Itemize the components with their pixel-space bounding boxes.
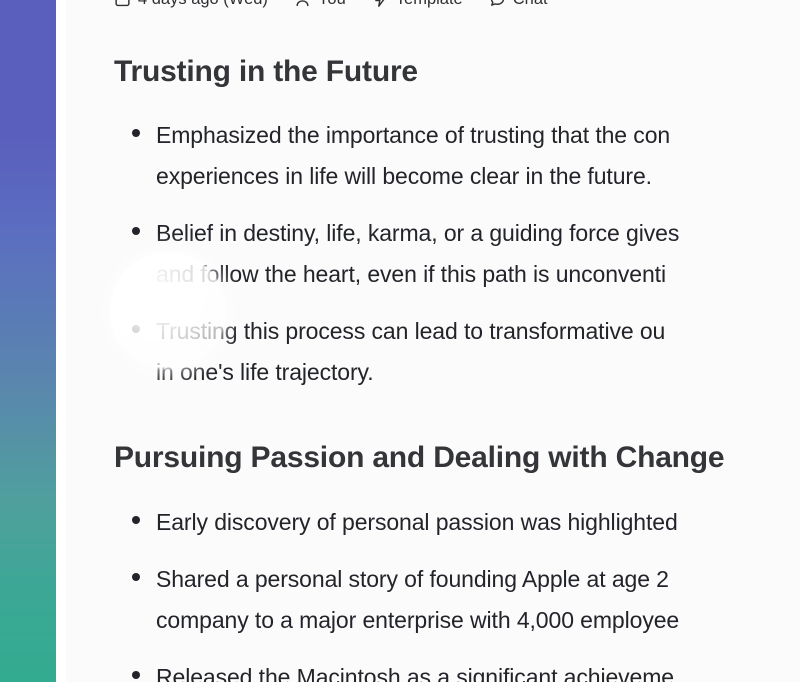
list-item-line: Early discovery of personal passion was … [156,502,800,543]
section-heading: Pursuing Passion and Dealing with Change [66,439,800,477]
document-panel: 4 days ago (Wed) You Template [66,0,800,682]
lightning-icon [372,0,389,8]
list-item-line: Trusting this process can lead to transf… [156,311,800,352]
bullet-dot-icon [132,671,140,679]
app-screen: 4 days ago (Wed) You Template [0,0,800,682]
list-item-line: Shared a personal story of founding Appl… [156,559,800,600]
meta-item-template-label: Template [396,0,463,9]
list-item-line: Released the Macintosh as a significant … [156,657,800,682]
list-item[interactable]: Belief in destiny, life, karma, or a gui… [66,213,800,295]
meta-item-template[interactable]: Template [372,0,463,9]
meta-item-date[interactable]: 4 days ago (Wed) [114,0,268,9]
document-section: Trusting in the Future Emphasized the im… [66,53,800,393]
calendar-icon [114,0,131,8]
left-gradient-rail [0,0,56,682]
meta-item-author[interactable]: You [294,0,346,9]
list-item-line: experiences in life will become clear in… [156,156,800,197]
list-item-line: in one's life trajectory. [156,352,800,393]
document-content: Trusting in the Future Emphasized the im… [66,28,800,682]
list-item-line: and follow the heart, even if this path … [156,254,800,295]
document-meta-bar: 4 days ago (Wed) You Template [66,0,548,12]
bullet-dot-icon [132,129,140,137]
meta-item-author-label: You [318,0,346,9]
section-heading: Trusting in the Future [66,53,800,91]
chat-icon [489,0,506,8]
list-item-line: company to a major enterprise with 4,000… [156,600,800,641]
document-section: Pursuing Passion and Dealing with Change… [66,439,800,682]
bullet-dot-icon [132,573,140,581]
meta-item-chat-label: Chat [513,0,548,9]
bullet-dot-icon [132,227,140,235]
list-item[interactable]: Released the Macintosh as a significant … [66,657,800,682]
list-item-line: Emphasized the importance of trusting th… [156,115,800,156]
list-item[interactable]: Trusting this process can lead to transf… [66,311,800,393]
list-item[interactable]: Emphasized the importance of trusting th… [66,115,800,197]
section-bullet-list: Early discovery of personal passion was … [66,502,800,682]
bullet-dot-icon [132,325,140,333]
person-icon [294,0,311,8]
list-item[interactable]: Shared a personal story of founding Appl… [66,559,800,641]
section-bullet-list: Emphasized the importance of trusting th… [66,115,800,393]
list-item-line: Belief in destiny, life, karma, or a gui… [156,213,800,254]
bullet-dot-icon [132,516,140,524]
list-item[interactable]: Early discovery of personal passion was … [66,502,800,543]
meta-item-chat[interactable]: Chat [489,0,548,9]
rail-gutter [56,0,66,682]
meta-item-date-label: 4 days ago (Wed) [138,0,268,9]
